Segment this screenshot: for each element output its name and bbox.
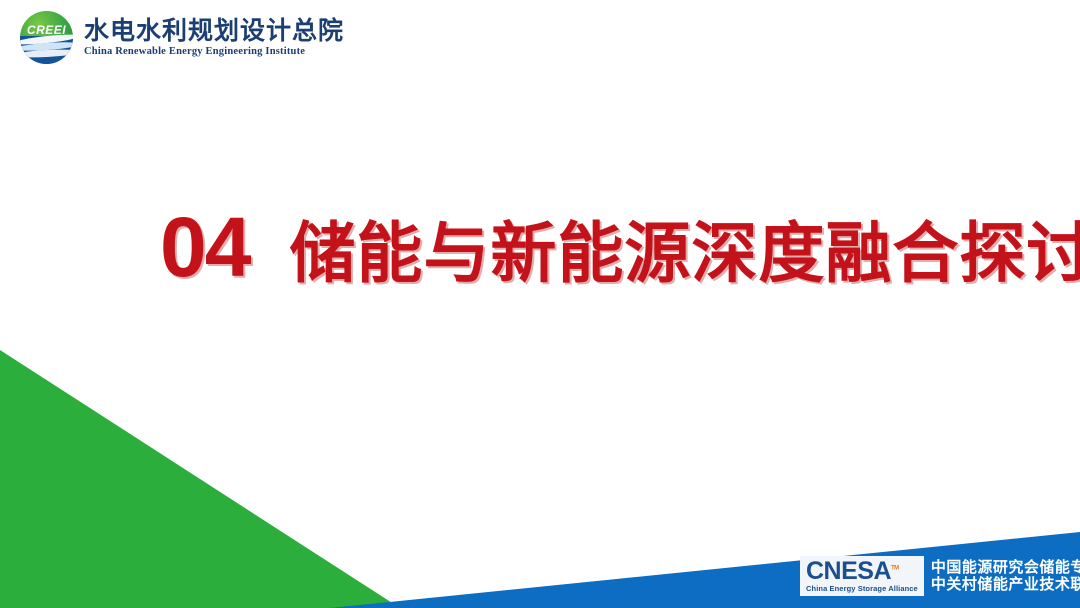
organization-name-en: China Renewable Energy Engineering Insti… [84,47,344,58]
section-number: 04 [160,205,249,289]
section-title-block: 04 储能与新能源深度融合探讨 [160,205,1080,289]
organization-name-cn: 水电水利规划设计总院 [84,18,344,43]
cnesa-chinese-line-1: 中国能源研究会储能专委会 [931,559,1080,576]
organization-header: CREEI 水电水利规划设计总院 China Renewable Energy … [20,11,344,64]
cnesa-chinese-names: 中国能源研究会储能专委会 中关村储能产业技术联盟 [924,556,1080,596]
cnesa-chinese-line-2: 中关村储能产业技术联盟 [931,576,1080,593]
cnesa-partner-logo: CNESATM China Energy Storage Alliance 中国… [800,556,1080,596]
cnesa-subtitle: China Energy Storage Alliance [806,585,918,593]
cnesa-wordmark-text: CNESA [806,557,891,585]
organization-names: 水电水利规划设计总院 China Renewable Energy Engine… [84,18,344,58]
cnesa-logo-icon: CNESATM China Energy Storage Alliance [800,556,924,596]
presentation-slide: CREEI 水电水利规划设计总院 China Renewable Energy … [0,0,1080,608]
page-title: 储能与新能源深度融合探讨 [289,221,1080,287]
creei-logo-icon: CREEI [20,11,73,64]
trademark-icon: TM [891,566,899,572]
cnesa-wordmark: CNESATM [806,560,918,584]
decorative-shape-layer [0,0,1080,608]
green-angled-triangle [0,350,400,608]
logo-mark-text: CREEI [20,23,73,37]
